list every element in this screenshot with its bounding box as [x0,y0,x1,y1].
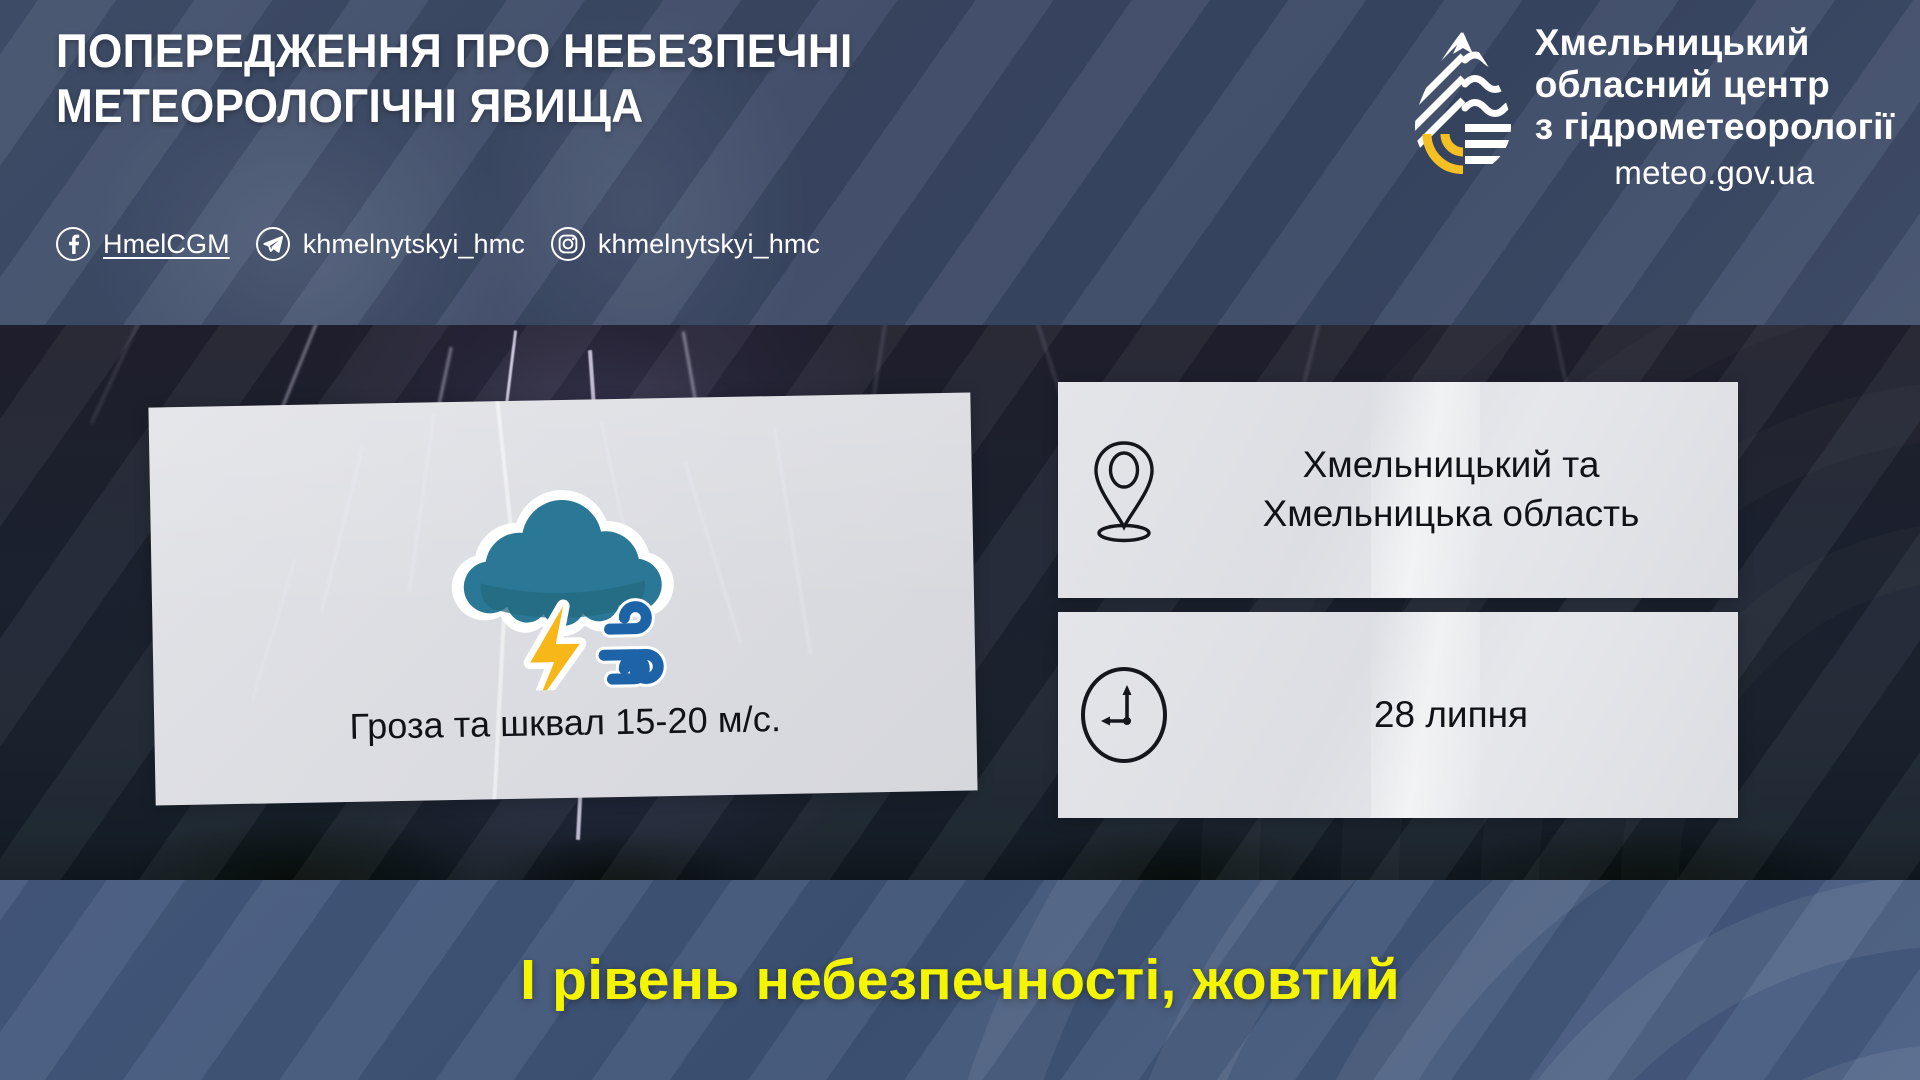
social-link-facebook[interactable]: HmelCGM [56,227,230,261]
instagram-handle: khmelnytskyi_hmc [598,229,820,260]
page-title: ПОПЕРЕДЖЕННЯ ПРО НЕБЕЗПЕЧНІ МЕТЕОРОЛОГІЧ… [56,24,977,133]
telegram-icon [256,227,290,261]
location-line-1: Хмельницький та [1190,441,1712,490]
clock-icon [1074,661,1174,769]
location-line-2: Хмельницька область [1190,490,1712,539]
poster-root: ПОПЕРЕДЖЕННЯ ПРО НЕБЕЗПЕЧНІ МЕТЕОРОЛОГІЧ… [0,0,1920,1080]
logo-text-block: Хмельницький обласний центр з гідрометео… [1535,22,1894,193]
logo-website[interactable]: meteo.gov.ua [1535,153,1894,193]
thunderstorm-wind-icon [411,477,715,692]
date-panel: 28 липня [1058,612,1738,818]
date-value: 28 липня [1190,691,1712,740]
map-pin-icon [1087,437,1161,543]
social-link-telegram[interactable]: khmelnytskyi_hmc [256,227,525,261]
location-panel: Хмельницький та Хмельницька область [1058,382,1738,598]
organization-logo: Хмельницький обласний центр з гідрометео… [1409,22,1894,193]
logo-line-2: обласний центр [1535,64,1894,106]
instagram-icon [551,227,585,261]
facebook-handle: HmelCGM [103,229,230,260]
date-text: 28 липня [1190,691,1738,740]
danger-level-banner: І рівень небезпечності, жовтий [0,947,1920,1013]
telegram-handle: khmelnytskyi_hmc [303,229,525,260]
facebook-icon [56,227,90,261]
footer-band: І рівень небезпечності, жовтий [0,880,1920,1080]
headline-line-2: МЕТЕОРОЛОГІЧНІ ЯВИЩА [56,79,977,134]
location-icon-slot [1058,437,1190,543]
headline-line-1: ПОПЕРЕДЖЕННЯ ПРО НЕБЕЗПЕЧНІ [56,24,853,77]
warning-card: Гроза та шквал 15-20 м/с. [148,393,977,806]
warning-caption: Гроза та шквал 15-20 м/с. [349,698,781,748]
social-link-instagram[interactable]: khmelnytskyi_hmc [551,227,820,261]
logo-line-1: Хмельницький [1535,22,1894,64]
header-band: ПОПЕРЕДЖЕННЯ ПРО НЕБЕЗПЕЧНІ МЕТЕОРОЛОГІЧ… [0,0,1920,325]
logo-line-3: з гідрометеорології [1535,106,1894,148]
date-icon-slot [1058,661,1190,769]
location-text: Хмельницький та Хмельницька область [1190,441,1738,539]
social-links-row: HmelCGM khmelnytskyi_hmc [56,227,846,261]
water-droplet-logo-icon [1409,28,1517,176]
